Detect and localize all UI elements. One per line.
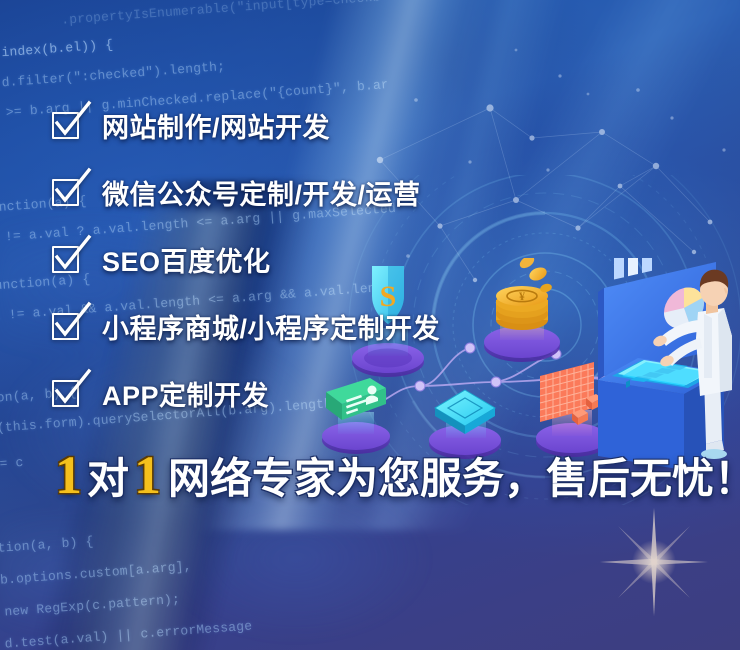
feature-item-website[interactable]: 网站制作/网站开发 <box>52 100 672 150</box>
checkbox-checked-icon[interactable] <box>52 177 82 207</box>
feature-item-seo[interactable]: SEO百度优化 <box>52 234 672 284</box>
service-promo-banner: .propertyIsEnumerable("input[type=checkb… <box>0 0 740 650</box>
feature-item-miniprogram[interactable]: 小程序商城/小程序定制开发 <box>52 301 672 351</box>
checkbox-checked-icon[interactable] <box>52 311 82 341</box>
banner-content: 网站制作/网站开发 微信公众号定制/开发/运营 SEO百度优化 <box>0 0 740 650</box>
tagline-number-first: 1 <box>52 448 85 502</box>
checkbox-checked-icon[interactable] <box>52 244 82 274</box>
feature-label: 微信公众号定制/开发/运营 <box>102 173 421 212</box>
feature-item-app[interactable]: APP定制开发 <box>52 368 672 418</box>
service-feature-list: 网站制作/网站开发 微信公众号定制/开发/运营 SEO百度优化 <box>52 100 672 435</box>
feature-label: 网站制作/网站开发 <box>102 106 330 145</box>
tagline-text: 网络专家为您服务，售后无忧！ <box>168 458 740 500</box>
feature-item-wechat[interactable]: 微信公众号定制/开发/运营 <box>52 167 672 217</box>
checkbox-checked-icon[interactable] <box>52 110 82 140</box>
checkbox-checked-icon[interactable] <box>52 378 82 408</box>
tagline-number-second: 1 <box>131 448 164 502</box>
feature-label: 小程序商城/小程序定制开发 <box>102 307 440 346</box>
tagline-separator: 对 <box>85 458 131 500</box>
tagline: 1 对 1 网络专家为您服务，售后无忧！ <box>52 448 740 502</box>
feature-label: APP定制开发 <box>102 374 269 413</box>
feature-label: SEO百度优化 <box>102 240 271 279</box>
